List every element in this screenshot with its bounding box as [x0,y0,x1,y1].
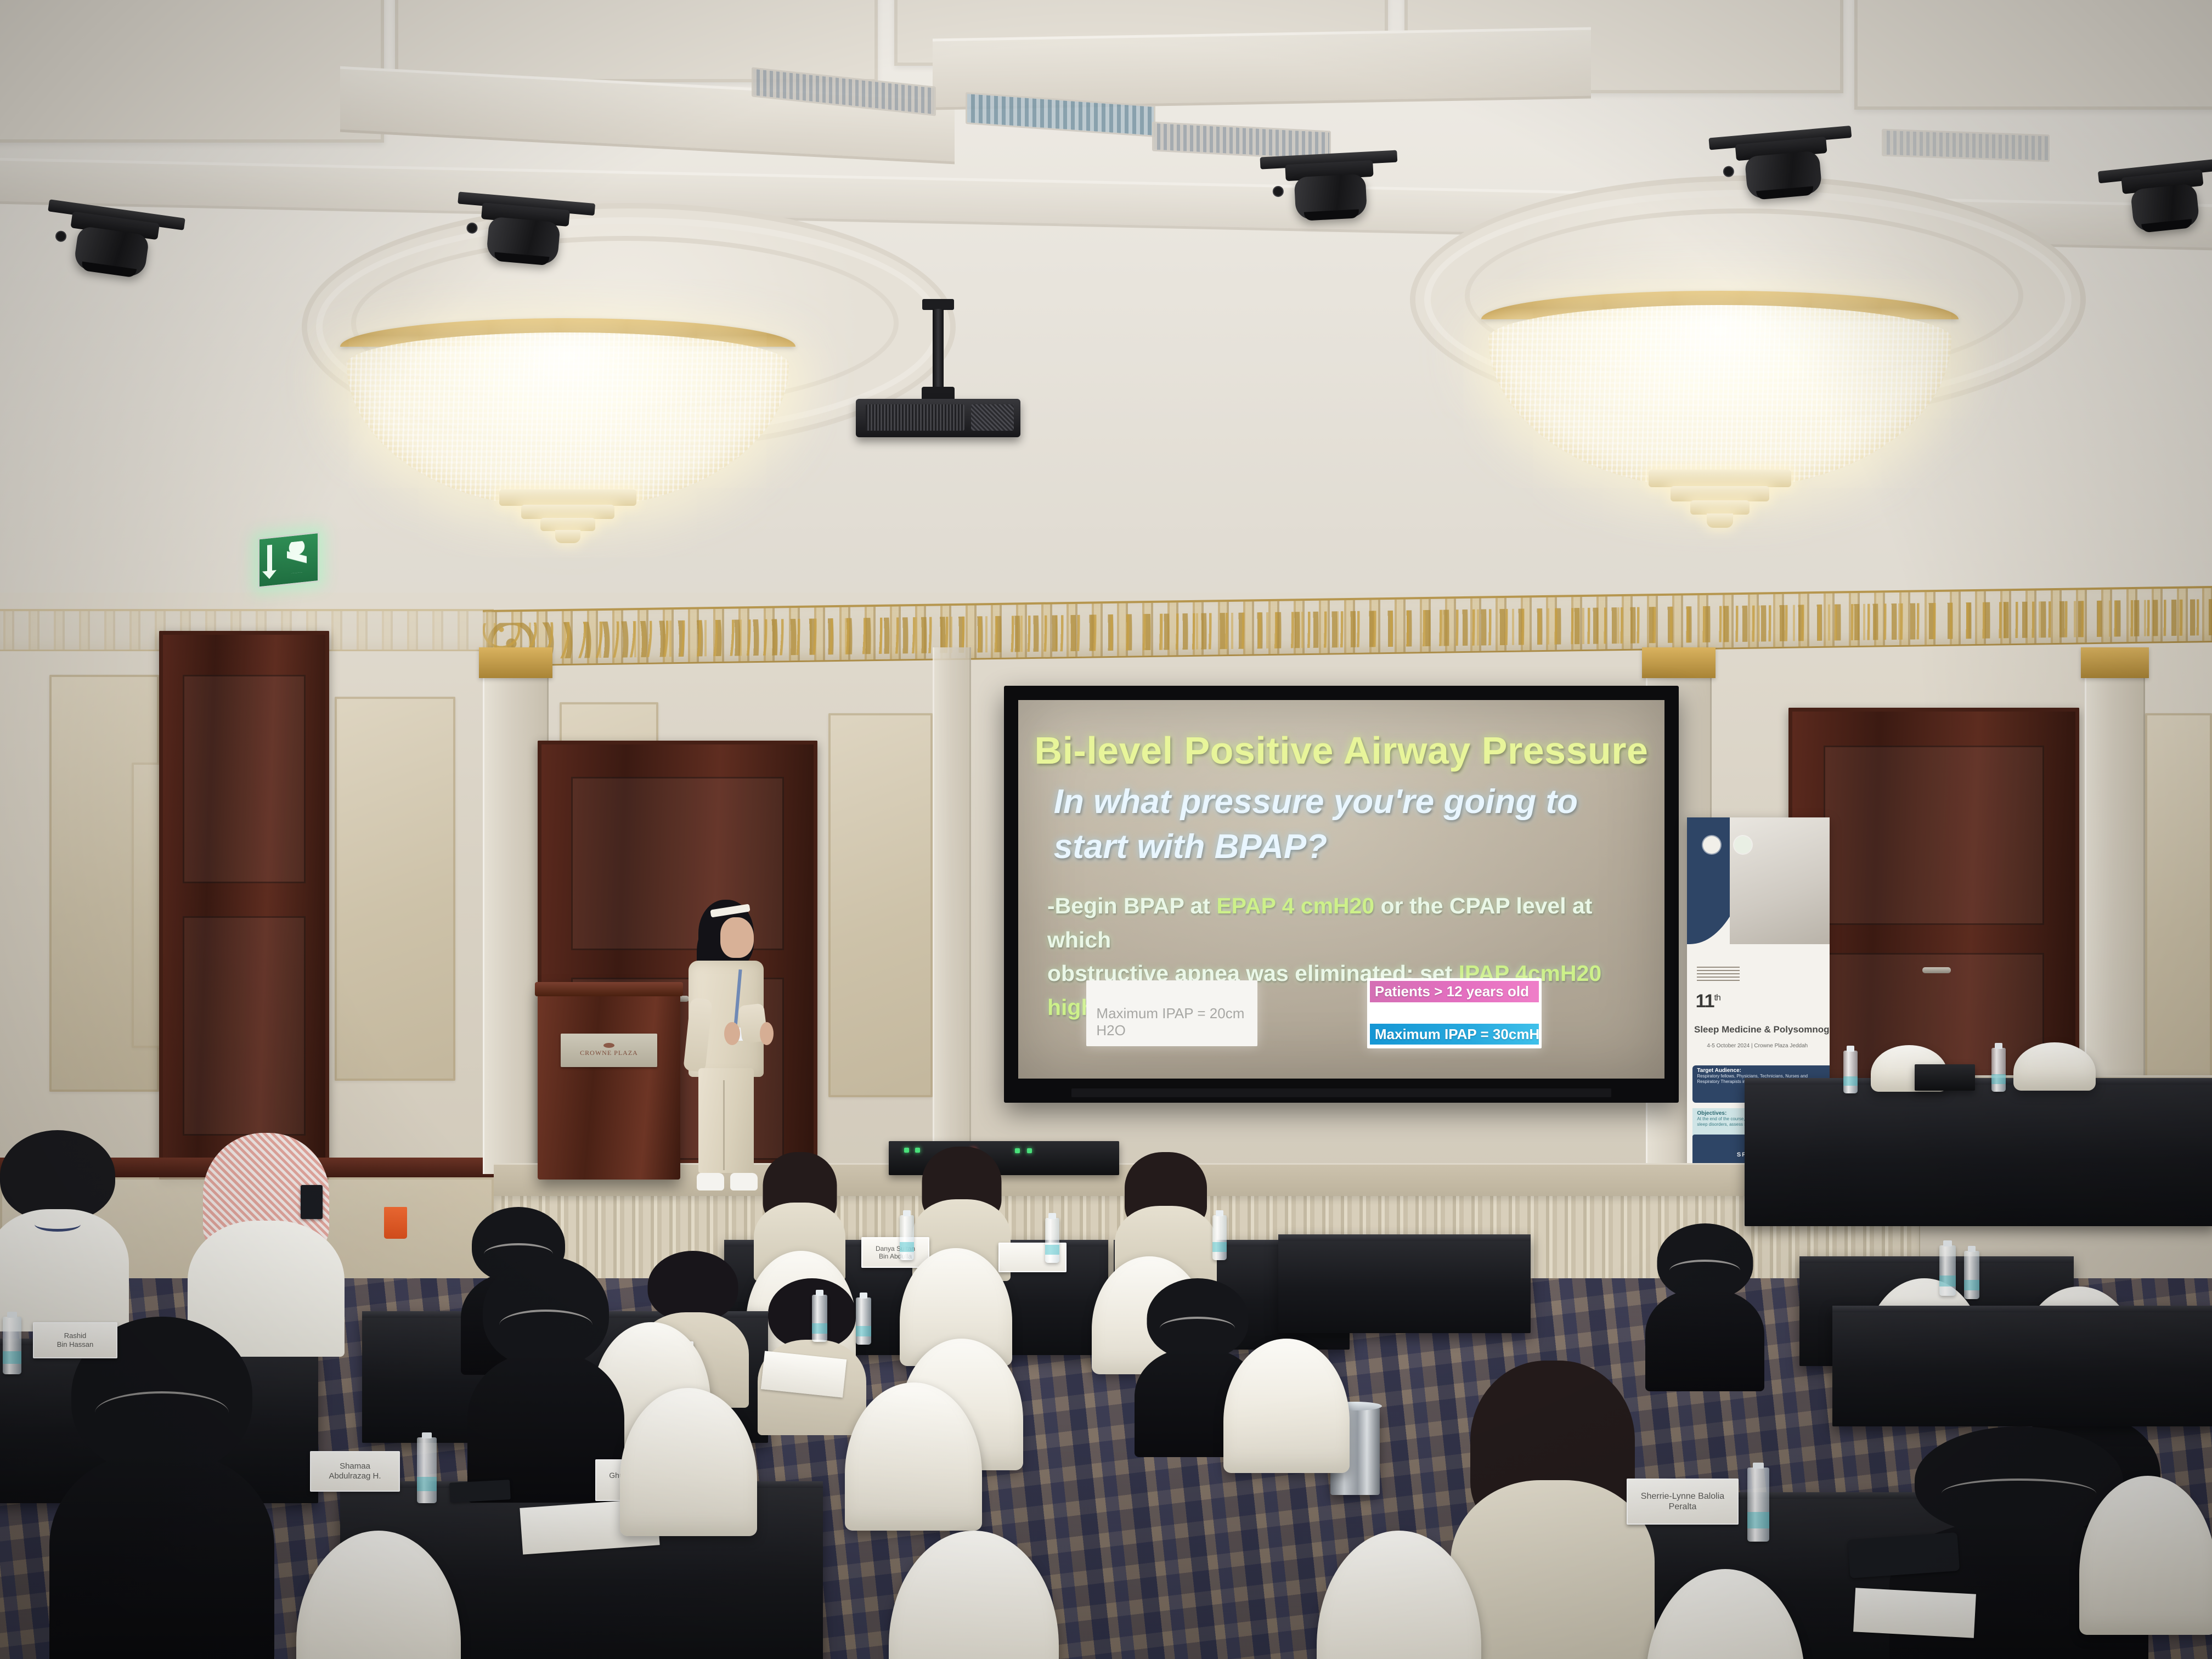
chandelier-tier [1671,486,1769,501]
slide-title: Bi-level Positive Airway Pressure [1018,729,1664,772]
running-person-icon [287,540,307,574]
bottle-label [1843,1076,1858,1086]
presenter [675,900,774,1190]
ceiling-air-vent [1882,129,2050,162]
target-audience-label: Target Audience: [1697,1068,1825,1074]
pilaster-gold-capital [2081,647,2148,678]
bottle-label [1991,1074,2006,1084]
presenter-left-shoe [697,1173,724,1190]
wall-panel [828,713,933,1097]
bottle-cap [422,1432,432,1438]
bottle-label [1939,1276,1956,1286]
name-card-line2: Peralta [1669,1502,1697,1511]
hijab-rim [499,1310,592,1341]
projector-ceiling-plate [922,299,954,310]
attendee-head [647,1251,738,1322]
pilaster-gold-capital [479,647,552,678]
edition-suffix: th [1714,994,1720,1003]
bottle-label [900,1242,914,1252]
crowne-plaza-crest-icon [603,1043,614,1048]
chandelier-tier [499,489,636,506]
bottle-label [3,1351,21,1364]
right-box-footer: Maximum IPAP = 30cmH2O [1370,1024,1539,1045]
bottle-label [812,1323,827,1334]
hijab-rim [95,1391,229,1434]
status-led-green [915,1148,920,1153]
presenter-trouser-seam [723,1080,725,1170]
emergency-exit-sign [258,532,316,585]
handout-paper[interactable] [1853,1588,1976,1638]
bottle-cap [1753,1463,1764,1469]
gold-garland-ornament [483,599,2212,659]
ceiling-coffer [0,0,384,143]
attendee [1657,1223,1753,1388]
name-card-line1: Shamaa [340,1462,370,1471]
juice-cup[interactable] [384,1207,407,1239]
door-panel [1824,746,2045,925]
ceiling-coffer [395,0,878,82]
projector-lens [971,404,1014,431]
bottle-cap [1216,1210,1223,1216]
spotlight-knob [1272,185,1284,197]
hijab-rim [1669,1260,1741,1282]
wall-pilaster [933,647,971,1163]
wall-panel [2145,713,2212,1097]
stage-spotlight [2098,158,2212,242]
water-bottle[interactable] [812,1295,827,1342]
body-line1-a: -Begin BPAP at [1047,893,1216,918]
left-box-caption: Maximum IPAP = 20cm H2O [1096,1005,1249,1039]
presenter-right-shoe [730,1173,758,1190]
table-edge [1278,1234,1531,1241]
ceiling-coffer [1854,0,2212,110]
body-line1-highlight: EPAP 4 cmH20 [1216,893,1374,918]
podium-plaque: CROWNE PLAZA [561,1034,658,1067]
bottle-cap [7,1312,17,1318]
water-bottle[interactable] [1747,1468,1769,1542]
banner-date-venue: 4-5 October 2024 | Crowne Plaza Jeddah [1707,1043,1825,1049]
chandelier-tier [1649,470,1791,487]
slide-question: In what pressure you're going to start w… [1054,780,1632,870]
bottle-label [856,1326,871,1336]
audience-table [1832,1306,2212,1426]
name-card-line1: Rashid [64,1331,86,1340]
chandelier-finial [1707,513,1733,528]
banner-course-title: Sleep Medicine & Polysomnography Course [1694,1024,1825,1035]
door-handle[interactable] [1922,967,1951,973]
chandelier-tier [1690,500,1750,515]
audience-table [1278,1234,1531,1333]
attendee-white-shirt [0,1130,115,1328]
name-card-line2: Abdulrazag H. [329,1471,381,1481]
podium-plaque-text: CROWNE PLAZA [580,1049,638,1057]
door-panel [183,916,305,1136]
attendee-body [1451,1480,1655,1659]
tablet-device[interactable] [1848,1532,1960,1578]
chandelier-tier [540,518,595,531]
table-edge [1745,1078,2212,1085]
head-table [1745,1078,2212,1226]
gold-frieze [483,586,2212,667]
status-led-green [1015,1148,1020,1153]
status-led-green [904,1148,909,1153]
spotlight-knob [1723,166,1735,178]
bottle-cap [1995,1043,2002,1049]
table-name-card: RashidBin Hassan [33,1322,117,1358]
bottle-cap [860,1293,868,1299]
projector-pole-mount [933,309,944,391]
chandelier-finial [555,530,580,543]
water-bottle[interactable] [1212,1215,1227,1260]
water-bottle[interactable] [1045,1218,1059,1263]
right-box-header: Patients > 12 years old [1370,981,1539,1002]
chandelier-crystals [347,332,788,507]
water-bottle[interactable] [1843,1051,1858,1093]
podium: CROWNE PLAZA [538,982,680,1180]
presenter-left-hand [724,1022,740,1045]
hijab-rim [1942,1479,2096,1509]
spotlight-knob [466,222,478,234]
presenter-right-hand [760,1022,774,1045]
crystal-chandelier [340,318,795,549]
table-edge [1799,1256,2074,1263]
spotlight-knob [55,230,67,242]
projection-screen: Bi-level Positive Airway Pressure In wha… [1018,700,1664,1079]
bottle-cap [1943,1240,1952,1246]
table-name-card: Sherrie-Lynne BaloliaPeralta [1627,1479,1739,1525]
attendee-body [1645,1289,1764,1391]
pilaster-gold-capital [1642,647,1716,678]
water-bottle[interactable] [900,1215,914,1260]
table-name-card: ShamaaAbdulrazag H. [310,1451,400,1492]
door-panel [183,675,305,883]
wave-lines-icon [1697,967,1740,981]
water-bottle[interactable] [1939,1245,1956,1296]
water-bottle[interactable] [1964,1251,1979,1299]
ceiling-projector [856,299,1020,442]
presenter-trousers [698,1068,754,1173]
conference-hall-photo: Bi-level Positive Airway Pressure In wha… [0,0,2212,1659]
edition-num: 11 [1696,991,1714,1012]
slide-left-box: Maximum IPAP = 20cm H2O [1086,980,1257,1047]
saudi-emblem-icon [1734,836,1752,854]
water-bottle[interactable] [417,1437,437,1503]
bottle-cap [816,1290,824,1296]
bottle-label [417,1477,437,1491]
ballroom-door [159,631,329,1180]
water-bottle[interactable] [1991,1048,2006,1092]
chandelier-tier [521,505,614,519]
table-edge [1832,1306,2212,1312]
chandelier-crystals [1488,305,1951,488]
water-bottle[interactable] [3,1317,21,1374]
projection-screen-frame: Bi-level Positive Airway Pressure In wha… [1004,686,1679,1103]
smartphone[interactable] [449,1480,511,1503]
bottle-label [1045,1245,1059,1255]
attendee-lanyard [35,1217,81,1232]
attendee [71,1317,252,1657]
water-bottle[interactable] [856,1297,871,1345]
screen-bottom-bar [1071,1088,1611,1097]
down-arrow-icon [267,545,272,572]
smartphone[interactable] [301,1185,323,1219]
attendee-body [49,1453,274,1659]
bottle-label [1212,1242,1227,1252]
attendee-head [0,1130,115,1221]
slide-body-line-1: -Begin BPAP at EPAP 4 cmH20 or the CPAP … [1047,889,1639,957]
stage-spotlight [453,191,595,274]
hijab-rim [1160,1317,1235,1340]
status-led-green [1027,1148,1032,1153]
name-card-line1: Sherrie-Lynne Balolia [1641,1492,1724,1501]
attendee-foreground [1470,1361,1635,1659]
presenter-face [720,917,754,958]
podium-top [535,982,683,996]
stage-spotlight [1260,150,1401,234]
bottle-cap [1048,1213,1056,1219]
projector-vent-grill [866,404,964,431]
moon-logo-icon [1703,836,1720,854]
slide-right-box: Patients > 12 years old Maximum IPAP = 3… [1367,978,1542,1048]
wall-panel [335,697,455,1081]
laptop-on-head-table[interactable] [1915,1064,1975,1091]
stage-spotlight [1708,126,1857,215]
bottle-cap [903,1210,911,1216]
bottle-cap [1968,1246,1976,1252]
name-card-line2: Bin Hassan [57,1340,93,1348]
bottle-cap [1847,1046,1854,1052]
table-name-card: Danya SultanBin Abdulla [861,1237,929,1268]
attendee [483,1256,609,1498]
bottle-label [1964,1280,1979,1290]
crystal-chandelier [1481,291,1959,532]
banner-edition-number: 11th [1696,991,1720,1012]
bottle-label [1747,1512,1769,1528]
